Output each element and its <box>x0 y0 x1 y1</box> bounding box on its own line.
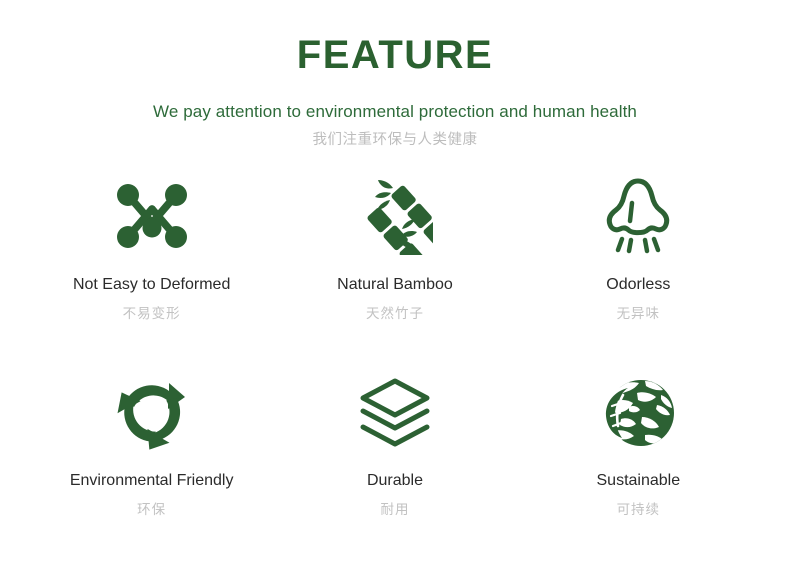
feature-label-en: Natural Bamboo <box>337 275 453 294</box>
feature-item-odorless: Odorless 无异味 <box>517 174 760 322</box>
feature-label-cn: 耐用 <box>380 502 409 518</box>
feature-grid: Not Easy to Deformed 不易变形 <box>0 174 790 518</box>
feature-label-en: Durable <box>367 471 423 490</box>
molecule-lattice-icon <box>114 174 190 260</box>
feature-label-cn: 无异味 <box>617 306 661 322</box>
feature-label-en: Odorless <box>606 275 670 294</box>
feature-item-durable: Durable 耐用 <box>273 370 516 518</box>
feature-item-natural-bamboo: Natural Bamboo 天然竹子 <box>273 174 516 322</box>
feature-label-cn: 天然竹子 <box>366 306 424 322</box>
feature-label-cn: 环保 <box>137 502 166 518</box>
bamboo-icon <box>357 174 433 260</box>
layers-stack-icon <box>357 370 433 456</box>
feature-section: FEATURE We pay attention to environmenta… <box>0 0 790 576</box>
feature-label-cn: 可持续 <box>617 502 661 518</box>
feature-label-en: Sustainable <box>597 471 681 490</box>
globe-leaf-icon <box>599 370 677 456</box>
recycle-icon <box>113 370 191 456</box>
section-header: FEATURE We pay attention to environmenta… <box>0 0 790 150</box>
feature-label-en: Environmental Friendly <box>70 471 234 490</box>
feature-item-environmental-friendly: Environmental Friendly 环保 <box>30 370 273 518</box>
page-title: FEATURE <box>0 34 790 76</box>
feature-label-cn: 不易变形 <box>123 306 181 322</box>
subtitle-chinese: 我们注重环保与人类健康 <box>0 132 790 149</box>
subtitle-english: We pay attention to environmental protec… <box>0 102 790 122</box>
nose-icon <box>600 174 676 260</box>
feature-item-sustainable: Sustainable 可持续 <box>517 370 760 518</box>
feature-item-not-easy-to-deformed: Not Easy to Deformed 不易变形 <box>30 174 273 322</box>
feature-label-en: Not Easy to Deformed <box>73 275 230 294</box>
